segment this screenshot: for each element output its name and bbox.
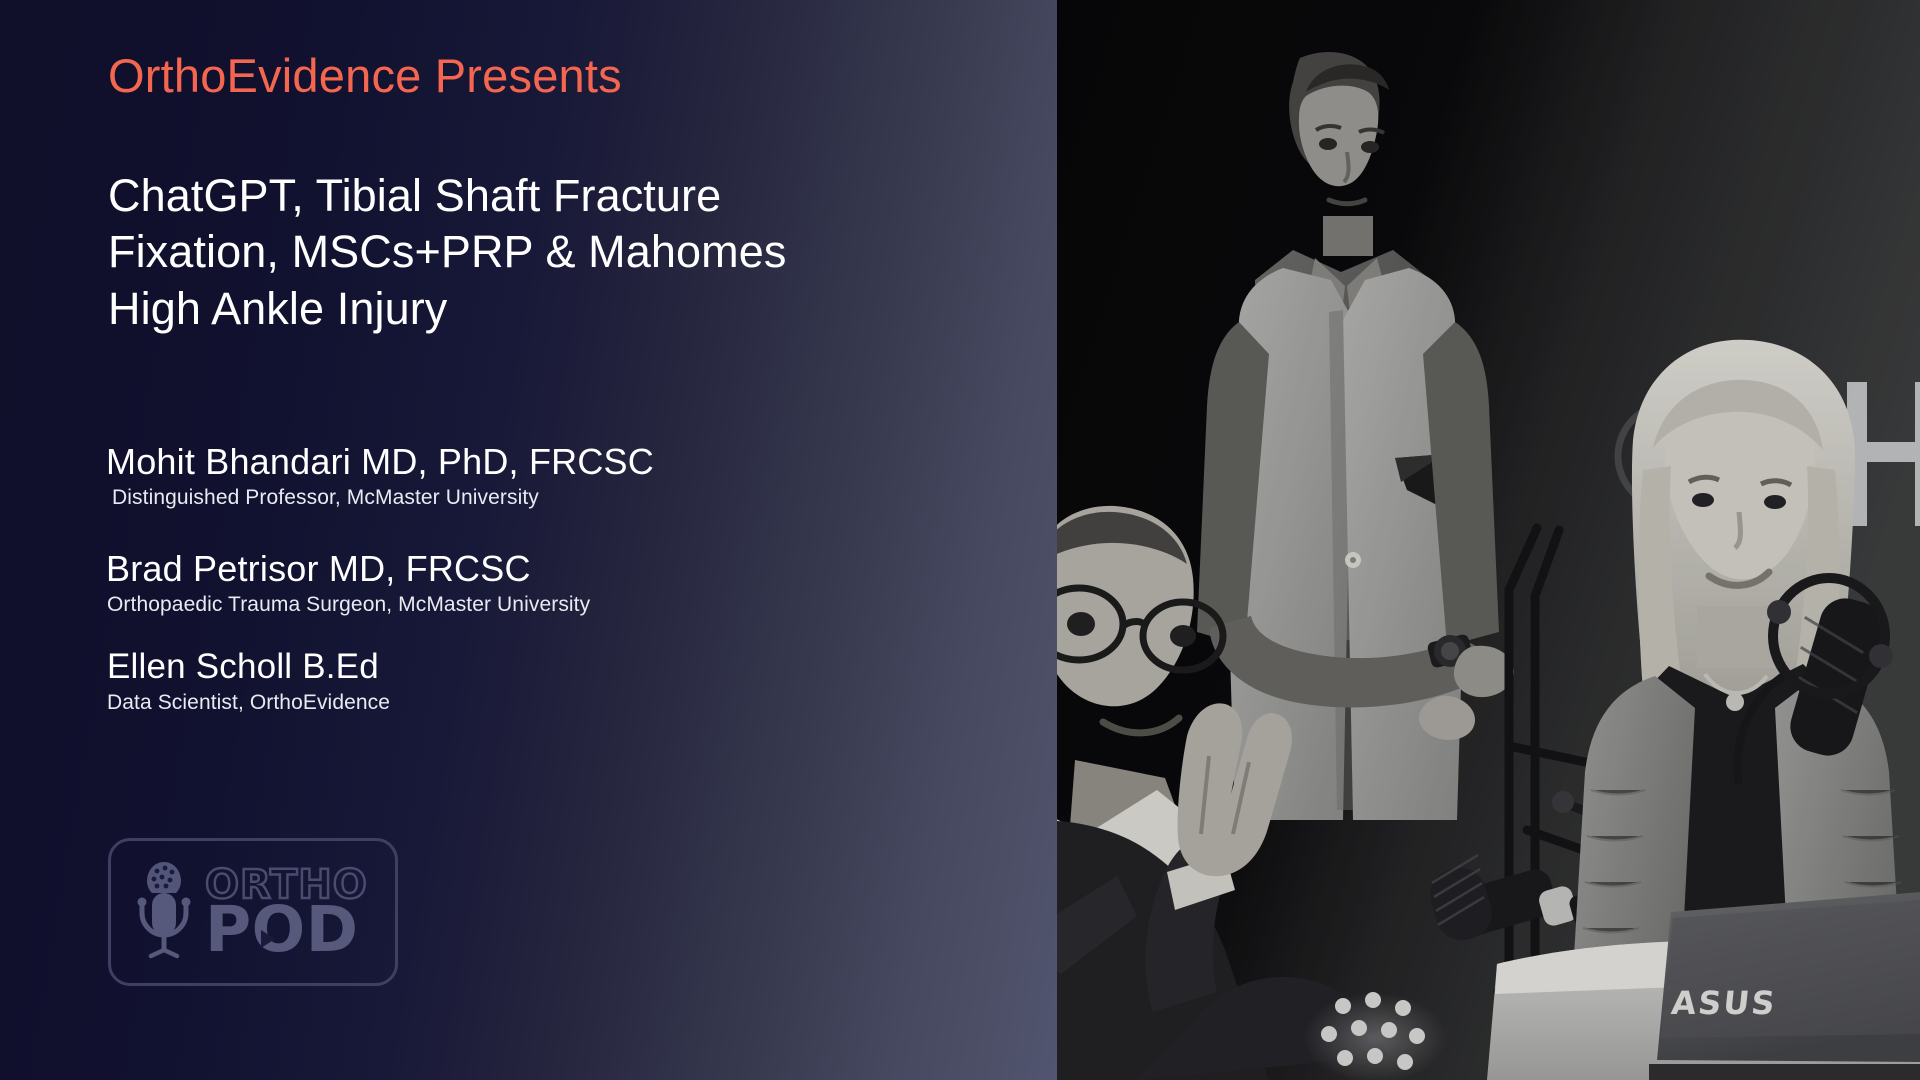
speaker-role: Data Scientist, OrthoEvidence [106,689,956,716]
logo-pod-text: POD [205,904,368,956]
page-title: ChatGPT, Tibial Shaft Fracture Fixation,… [108,168,938,337]
logo-pod-label: POD [205,893,359,966]
page-title-line-3: High Ankle Injury [108,281,938,337]
speaker-item: Mohit Bhandari MD, PhD, FRCSC Distinguis… [106,440,956,511]
studio-photo: ASUS [1057,0,1920,1080]
orthopod-logo: ORTHO POD [108,838,398,986]
studio-photo-image: ASUS [1057,0,1920,1080]
eyebrow-presents-label: OrthoEvidence Presents [108,48,622,104]
microphone-icon [133,858,195,967]
speaker-item: Brad Petrisor MD, FRCSC Orthopaedic Trau… [106,547,956,618]
presentation-slide: OrthoEvidence Presents ChatGPT, Tibial S… [0,0,1920,1080]
play-triangle-icon [261,930,275,948]
speaker-name: Ellen Scholl B.Ed [106,646,956,689]
page-title-line-2: Fixation, MSCs+PRP & Mahomes [108,224,938,280]
speaker-list: Mohit Bhandari MD, PhD, FRCSC Distinguis… [106,440,956,716]
speaker-role: Orthopaedic Trauma Surgeon, McMaster Uni… [106,591,956,618]
page-title-line-1: ChatGPT, Tibial Shaft Fracture [108,168,938,224]
logo-frame: ORTHO POD [108,838,398,986]
speaker-item: Ellen Scholl B.Ed Data Scientist, OrthoE… [106,646,956,716]
title-panel: OrthoEvidence Presents ChatGPT, Tibial S… [0,0,1057,1080]
speaker-name: Brad Petrisor MD, FRCSC [106,547,956,591]
speaker-role: Distinguished Professor, McMaster Univer… [106,484,956,511]
speaker-name: Mohit Bhandari MD, PhD, FRCSC [106,440,956,484]
